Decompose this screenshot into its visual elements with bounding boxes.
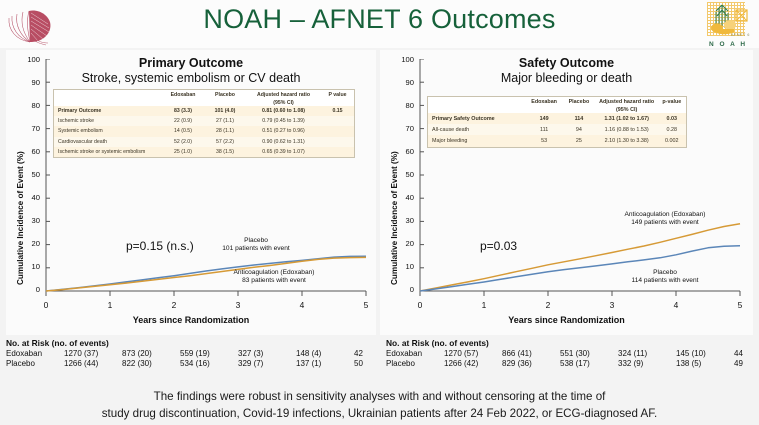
risk-cell: 145 (10)	[676, 349, 734, 359]
cell-placebo: 25	[562, 135, 596, 146]
left-ytick-100: 100	[20, 55, 40, 64]
right-xtick-2: 2	[541, 300, 555, 310]
col-placebo: Placebo	[204, 90, 246, 98]
left-risk-heading: No. at Risk (no. of events)	[6, 338, 376, 348]
row-label: Primary Safety Outcome	[428, 113, 526, 124]
risk-cell: 534 (16)	[180, 359, 238, 369]
cell-edoxaban: 22 (0.9)	[162, 116, 204, 126]
left-xtick-4: 4	[295, 300, 309, 310]
cell-p: 0.002	[658, 135, 686, 146]
risk-cell: 829 (36)	[502, 359, 560, 369]
slide-root: NOAH – AFNET 6 Outcomes AFNET 6 N O A H	[0, 0, 759, 425]
table-row: Primary Outcome83 (3.3)101 (4.0)0.81 (0.…	[54, 106, 354, 116]
col-placebo: Placebo	[562, 97, 596, 105]
right-placebo-annotation-line1: Placebo	[605, 269, 725, 277]
risk-cell: 1270 (37)	[64, 349, 122, 359]
right-ytick-30: 30	[394, 216, 414, 225]
cell-p	[321, 116, 354, 126]
right-plot-area	[418, 59, 746, 299]
col-blank	[428, 97, 526, 105]
cell-hr: 0.79 (0.45 to 1.39)	[246, 116, 321, 126]
cell-p	[321, 137, 354, 147]
right-xtick-5: 5	[733, 300, 747, 310]
noah-logo: AFNET 6 N O A H	[703, 2, 753, 48]
right-ytick-40: 40	[394, 193, 414, 202]
right-ytick-80: 80	[394, 101, 414, 110]
right-ytick-20: 20	[394, 239, 414, 248]
cell-edoxaban: 14 (0.5)	[162, 126, 204, 136]
table-row: Ischemic stroke22 (0.9)27 (1.1)0.79 (0.4…	[54, 116, 354, 126]
cell-p	[321, 126, 354, 136]
cell-edoxaban: 53	[526, 135, 562, 146]
table-row: All-cause death111941.16 (0.88 to 1.53)0…	[428, 124, 686, 135]
right-ytick-50: 50	[394, 170, 414, 179]
right-ytick-90: 90	[394, 78, 414, 87]
risk-row: Edoxaban 1270 (57) 866 (41) 551 (30) 324…	[386, 349, 756, 359]
row-label: Ischemic stroke or systemic embolism	[54, 147, 162, 157]
right-placebo-annotation-line2: 114 patients with event	[605, 277, 725, 285]
noah-logo-caption: N O A H	[703, 41, 753, 48]
right-ytick-10: 10	[394, 262, 414, 271]
risk-cell: 1270 (57)	[444, 349, 502, 359]
cell-placebo: 38 (1.5)	[204, 147, 246, 157]
right-ytick-70: 70	[394, 124, 414, 133]
left-xtick-3: 3	[231, 300, 245, 310]
left-pvalue-annotation: p=0.15 (n.s.)	[126, 239, 194, 253]
left-ytick-80: 80	[20, 101, 40, 110]
row-label: Major bleeding	[428, 135, 526, 146]
risk-cell: 137 (1)	[296, 359, 354, 369]
left-placebo-annotation-line2: 101 patients with event	[201, 245, 311, 253]
left-ytick-90: 90	[20, 78, 40, 87]
table-row: Primary Safety Outcome1491141.31 (1.02 t…	[428, 113, 686, 124]
risk-cell: 42	[354, 349, 376, 359]
cell-p: 0.15	[321, 106, 354, 116]
cell-edoxaban: 83 (3.3)	[162, 106, 204, 116]
row-label: Cardiovascular death	[54, 137, 162, 147]
cell-hr: 0.51 (0.27 to 0.96)	[246, 126, 321, 136]
risk-cell: 1266 (42)	[444, 359, 502, 369]
risk-cell: 559 (19)	[180, 349, 238, 359]
risk-cell: 1266 (44)	[64, 359, 122, 369]
table-row: Cardiovascular death52 (2.0)57 (2.2)0.90…	[54, 137, 354, 147]
right-ytick-60: 60	[394, 147, 414, 156]
safety-outcome-table: Edoxaban Placebo Adjusted hazard ratio p…	[427, 96, 687, 148]
left-xtick-1: 1	[103, 300, 117, 310]
risk-cell: 551 (30)	[560, 349, 618, 359]
table-subheader-row: (95% CI)	[54, 98, 354, 106]
left-ytick-0: 0	[20, 285, 40, 294]
col-blank	[54, 90, 162, 98]
right-xtick-3: 3	[605, 300, 619, 310]
cell-placebo: 28 (1.1)	[204, 126, 246, 136]
table-row: Ischemic stroke or systemic embolism25 (…	[54, 147, 354, 157]
table-header-row: Edoxaban Placebo Adjusted hazard ratio P…	[54, 90, 354, 98]
page-title: NOAH – AFNET 6 Outcomes	[0, 4, 759, 35]
risk-cell: 332 (9)	[618, 359, 676, 369]
primary-outcome-table: Edoxaban Placebo Adjusted hazard ratio P…	[53, 89, 355, 158]
risk-row: Edoxaban 1270 (37) 873 (20) 559 (19) 327…	[6, 349, 376, 359]
risk-cell: 44	[734, 349, 756, 359]
left-ytick-30: 30	[20, 216, 40, 225]
left-xtick-2: 2	[167, 300, 181, 310]
risk-cell: 324 (11)	[618, 349, 676, 359]
cell-placebo: 114	[562, 113, 596, 124]
col-edoxaban: Edoxaban	[526, 97, 562, 105]
risk-row-name: Placebo	[386, 359, 444, 369]
risk-cell: 329 (7)	[238, 359, 296, 369]
cell-placebo: 57 (2.2)	[204, 137, 246, 147]
col-hazard-ratio-ci: (95% CI)	[246, 98, 321, 106]
risk-cell: 822 (30)	[122, 359, 180, 369]
row-label: Ischemic stroke	[54, 116, 162, 126]
left-ytick-40: 40	[20, 193, 40, 202]
cell-placebo: 101 (4.0)	[204, 106, 246, 116]
row-label: All-cause death	[428, 124, 526, 135]
cell-hr: 1.16 (0.88 to 1.53)	[596, 124, 658, 135]
slide-footer: The findings were robust in sensitivity …	[0, 389, 759, 423]
risk-cell: 49	[734, 359, 756, 369]
safety-outcome-panel: Safety Outcome Major bleeding or death C…	[380, 50, 753, 335]
cell-placebo: 94	[562, 124, 596, 135]
cell-hr: 2.10 (1.30 to 3.38)	[596, 135, 658, 146]
col-hazard-ratio-ci: (95% CI)	[596, 105, 658, 113]
left-ytick-60: 60	[20, 147, 40, 156]
left-ytick-70: 70	[20, 124, 40, 133]
col-pvalue: P value	[321, 90, 354, 98]
risk-row-name: Edoxaban	[6, 349, 64, 359]
right-risk-heading: No. at Risk (no. of events)	[386, 338, 756, 348]
risk-row: Placebo 1266 (44) 822 (30) 534 (16) 329 …	[6, 359, 376, 369]
table-row: Major bleeding53252.10 (1.30 to 3.38)0.0…	[428, 135, 686, 146]
slide-header: NOAH – AFNET 6 Outcomes AFNET 6 N O A H	[0, 0, 759, 48]
cell-placebo: 27 (1.1)	[204, 116, 246, 126]
row-label: Systemic embolism	[54, 126, 162, 136]
risk-cell: 866 (41)	[502, 349, 560, 359]
noah-logo-sub: AFNET 6	[731, 33, 750, 37]
cell-hr: 0.90 (0.62 to 1.31)	[246, 137, 321, 147]
right-x-axis-label: Years since Randomization	[380, 315, 753, 325]
cell-hr: 1.31 (1.02 to 1.67)	[596, 113, 658, 124]
right-xtick-0: 0	[413, 300, 427, 310]
left-xtick-0: 0	[39, 300, 53, 310]
left-ytick-20: 20	[20, 239, 40, 248]
left-xtick-5: 5	[359, 300, 373, 310]
risk-row: Placebo 1266 (42) 829 (36) 538 (17) 332 …	[386, 359, 756, 369]
left-edoxaban-annotation-line2: 83 patients with event	[209, 277, 339, 285]
right-ytick-100: 100	[394, 55, 414, 64]
right-edoxaban-annotation-line1: Anticoagulation (Edoxaban)	[590, 211, 740, 219]
table-subheader-row: (95% CI)	[428, 105, 686, 113]
right-ytick-0: 0	[394, 285, 414, 294]
cell-edoxaban: 111	[526, 124, 562, 135]
left-x-axis-label: Years since Randomization	[6, 315, 376, 325]
left-edoxaban-annotation-line1: Anticoagulation (Edoxaban)	[209, 269, 339, 277]
left-risk-table: No. at Risk (no. of events) Edoxaban 127…	[6, 338, 376, 369]
cell-p: 0.28	[658, 124, 686, 135]
risk-cell: 148 (4)	[296, 349, 354, 359]
right-xtick-4: 4	[669, 300, 683, 310]
right-pvalue-annotation: p=0.03	[480, 239, 517, 253]
table-row: Systemic embolism14 (0.5)28 (1.1)0.51 (0…	[54, 126, 354, 136]
right-edoxaban-annotation-line2: 149 patients with event	[590, 219, 740, 227]
risk-cell: 538 (17)	[560, 359, 618, 369]
right-risk-table: No. at Risk (no. of events) Edoxaban 127…	[386, 338, 756, 369]
risk-cell: 138 (5)	[676, 359, 734, 369]
risk-cell: 327 (3)	[238, 349, 296, 359]
col-hazard-ratio: Adjusted hazard ratio	[246, 90, 321, 98]
cell-hr: 0.81 (0.60 to 1.08)	[246, 106, 321, 116]
col-pvalue: p-value	[658, 97, 686, 105]
col-edoxaban: Edoxaban	[162, 90, 204, 98]
cell-hr: 0.65 (0.39 to 1.07)	[246, 147, 321, 157]
footer-line-2: study drug discontinuation, Covid-19 inf…	[0, 406, 759, 423]
risk-row-name: Placebo	[6, 359, 64, 369]
left-placebo-annotation-line1: Placebo	[201, 237, 311, 245]
footer-line-1: The findings were robust in sensitivity …	[0, 389, 759, 406]
left-ytick-50: 50	[20, 170, 40, 179]
primary-outcome-panel: Primary Outcome Stroke, systemic embolis…	[6, 50, 376, 335]
risk-row-name: Edoxaban	[386, 349, 444, 359]
cell-p	[321, 147, 354, 157]
cell-p: 0.03	[658, 113, 686, 124]
row-label: Primary Outcome	[54, 106, 162, 116]
col-hazard-ratio: Adjusted hazard ratio	[596, 97, 658, 105]
right-xtick-1: 1	[477, 300, 491, 310]
risk-cell: 50	[354, 359, 376, 369]
cell-edoxaban: 149	[526, 113, 562, 124]
risk-cell: 873 (20)	[122, 349, 180, 359]
table-header-row: Edoxaban Placebo Adjusted hazard ratio p…	[428, 97, 686, 105]
left-ytick-10: 10	[20, 262, 40, 271]
cell-edoxaban: 25 (1.0)	[162, 147, 204, 157]
cell-edoxaban: 52 (2.0)	[162, 137, 204, 147]
